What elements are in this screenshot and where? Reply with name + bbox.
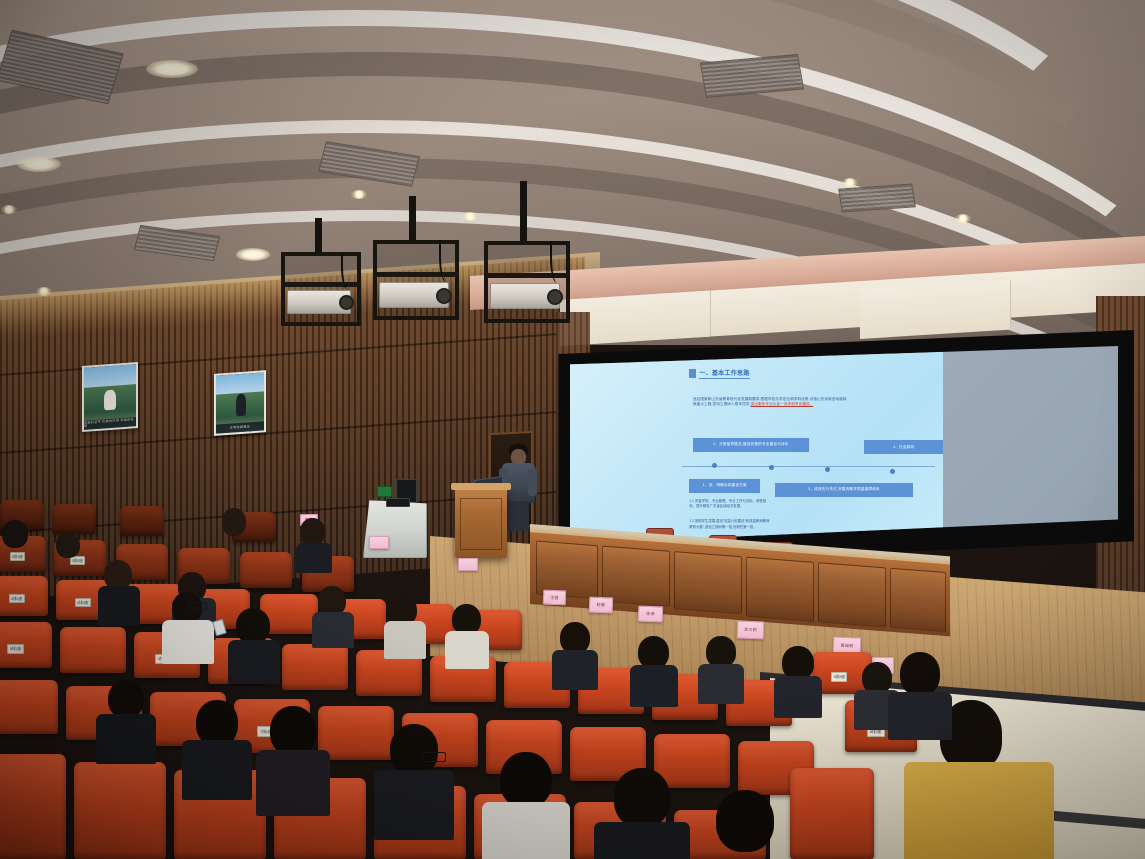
slide-bullet-1: 1.1 完善学院、专业管理、专业工作与目标、考核指标、提升服务广东省区域经济发展… — [689, 499, 771, 510]
seat[interactable] — [0, 754, 66, 859]
timeline-node — [712, 463, 717, 468]
seat-plate: 6排2座 — [831, 672, 847, 682]
ceiling-light — [1, 205, 17, 214]
seat-plate: 4排2座 — [75, 598, 91, 607]
ceiling-projector — [373, 238, 457, 336]
title-marker — [689, 369, 696, 378]
seat[interactable] — [74, 762, 166, 859]
seat-plate: 3排1座 — [10, 552, 25, 561]
timeline-label-bottom-1: 1、总、明确总体建设方案 — [689, 479, 760, 493]
ceiling-light — [17, 156, 61, 172]
av-control-cabinet[interactable] — [363, 500, 427, 558]
seat[interactable] — [52, 504, 96, 534]
ceiling-light — [842, 178, 858, 187]
name-placard: 徐涛 — [638, 606, 664, 623]
timeline-node — [890, 469, 895, 474]
timeline-label-bottom-2: 3、成效先行先试,完善的教学质量保障体系 — [775, 483, 913, 497]
seat[interactable] — [0, 680, 58, 734]
slide-title: 一、基本工作思路 — [689, 368, 749, 379]
auditorium-photo: 清新的空气 优美的环境 和谐的校园 文明校园建设 — [0, 0, 1145, 859]
seat[interactable] — [318, 706, 394, 760]
seat[interactable] — [790, 768, 874, 859]
timeline-label-top-1: 2、分类指导推进,建设完善的专业建设与评价 — [693, 438, 809, 452]
av-mixer[interactable] — [386, 498, 410, 507]
ceiling-light — [236, 248, 270, 261]
seat[interactable] — [60, 627, 126, 673]
timeline-label-top-2: 4、社会影响 — [864, 440, 942, 454]
seat[interactable] — [120, 506, 164, 536]
seat[interactable]: 5排1座 — [0, 622, 52, 668]
timeline-node — [769, 465, 774, 470]
seat-plate: 4排1座 — [9, 594, 25, 603]
poster-caption: 文明校园建设 — [216, 422, 264, 434]
name-placard: 赵敏 — [589, 597, 614, 614]
name-placard — [369, 536, 389, 549]
timeline-node — [825, 467, 830, 472]
ceiling-light — [146, 60, 198, 78]
wall-poster: 文明校园建设 — [214, 370, 266, 436]
projection-screen[interactable]: 一、基本工作思路 适应国家和山东省教育现代化发展新要求,根据学校办学定位和学科优… — [570, 344, 1118, 548]
podium — [455, 488, 507, 558]
timeline-axis — [682, 466, 935, 467]
name-placard: 龙方莉 — [737, 621, 765, 640]
ceiling-light — [955, 214, 971, 223]
stone-wall-panel — [860, 279, 1011, 339]
seat[interactable] — [282, 644, 348, 690]
ceiling-light — [351, 190, 367, 199]
presentation-slide: 一、基本工作思路 适应国家和山东省教育现代化发展新要求,根据学校办学定位和学科优… — [570, 344, 943, 548]
seat[interactable] — [240, 552, 292, 588]
slide-bullet-2: 1.2 按照学生发展,建设"双高计划建设"和双高教师教师教育大赛",强化立德树第… — [689, 519, 771, 530]
seat-plate: 5排1座 — [7, 644, 24, 654]
ceiling-projector — [484, 239, 568, 337]
exit-sign — [377, 486, 392, 497]
ceiling-projector — [281, 250, 359, 342]
eyeglasses — [422, 752, 446, 762]
ceiling-light — [36, 287, 52, 296]
slide-paragraph: 适应国家和山东省教育现代化发展新要求,根据学校办学定位和学科优势,对接山东省新旧… — [693, 397, 850, 408]
name-placard: 王强 — [543, 590, 567, 606]
name-placard — [458, 558, 478, 571]
eyeglasses — [190, 602, 207, 610]
seat[interactable]: 4排1座 — [0, 576, 48, 616]
wall-poster: 清新的空气 优美的环境 和谐的校园 — [82, 362, 138, 432]
eyeglasses — [866, 676, 884, 684]
ceiling-light — [462, 212, 478, 221]
